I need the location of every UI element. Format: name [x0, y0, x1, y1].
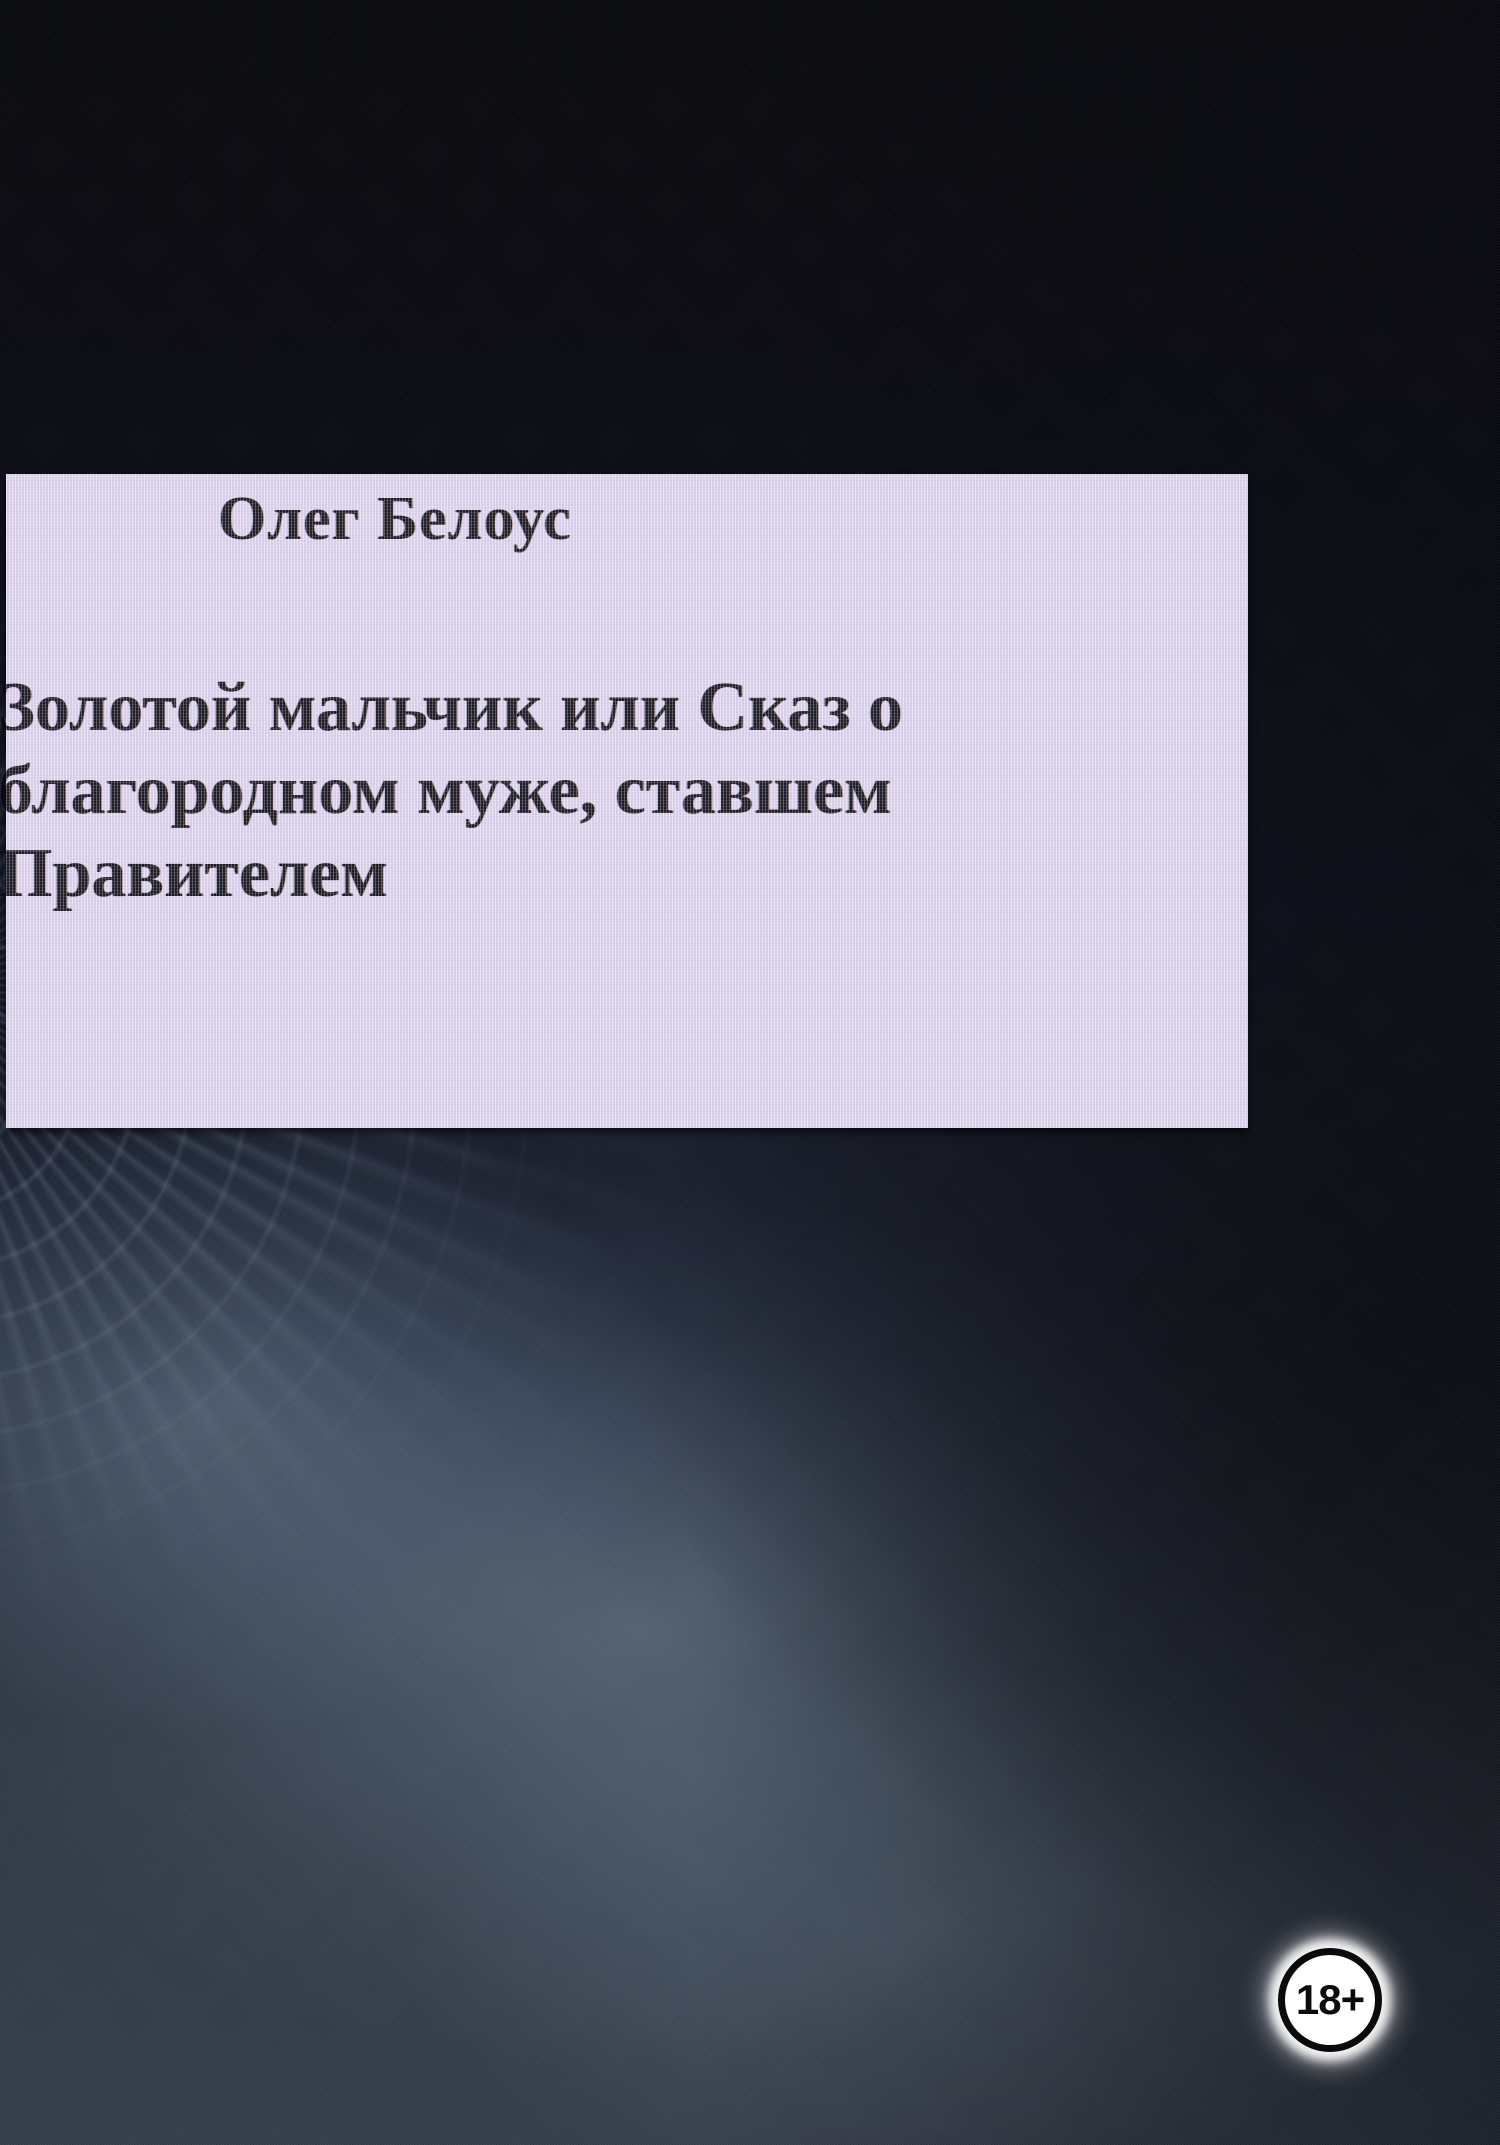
book-title-line: Золотой мальчик или Сказ о — [0, 666, 1178, 749]
author-name: Олег Белоус — [218, 484, 572, 555]
book-title: Золотой мальчик или Сказ о благородном м… — [0, 666, 1178, 915]
age-rating-badge: 18+ — [1278, 1948, 1382, 2052]
book-cover: Олег Белоус Золотой мальчик или Сказ о б… — [0, 0, 1500, 2145]
book-title-line: Правителем — [0, 832, 1178, 915]
book-title-line: благородном муже, ставшем — [0, 749, 1178, 832]
title-plate: Олег Белоус Золотой мальчик или Сказ о б… — [6, 474, 1248, 1128]
age-rating-label: 18+ — [1296, 1979, 1364, 2021]
